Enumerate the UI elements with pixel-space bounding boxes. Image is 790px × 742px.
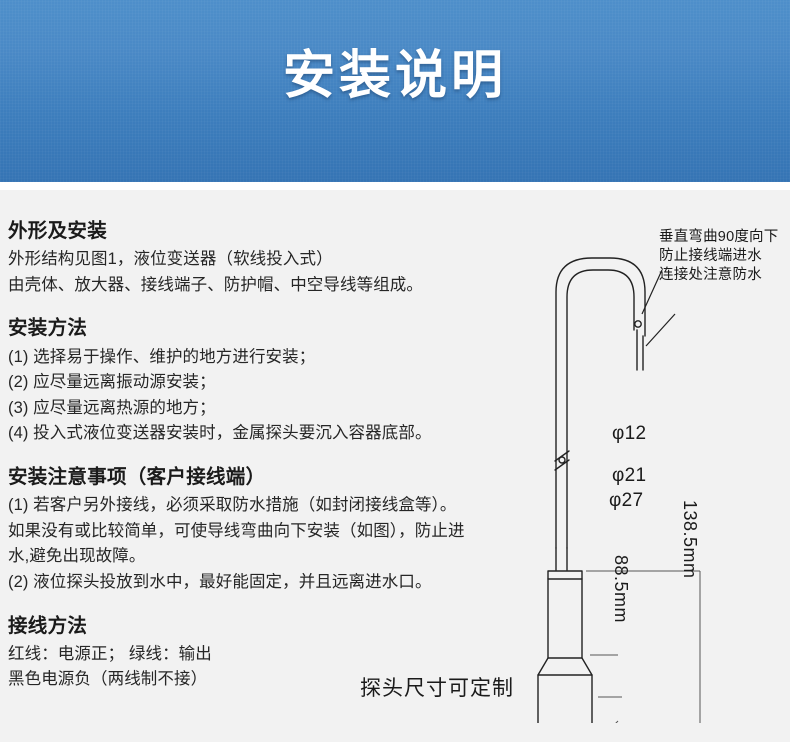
section-line: (1) 选择易于操作、维护的地方进行安装； — [8, 345, 528, 371]
section-line: (2) 液位探头投放到水中，最好能固定，并且远离进水口。 — [8, 570, 528, 596]
probe-neck-phi12 — [548, 571, 582, 658]
header-banner: 安装说明 — [0, 0, 790, 182]
cable-terminal-node — [635, 321, 641, 327]
annotation-leader-terminal — [646, 314, 675, 346]
section-heading: 安装方法 — [8, 315, 528, 341]
section-body: (1) 若客户另外接线，必须采取防水措施（如封闭接线盒等）。 如果没有或比较简单… — [8, 493, 528, 595]
diameter-label-phi27: φ27 — [609, 490, 643, 512]
section-body: (1) 选择易于操作、维护的地方进行安装； (2) 应尽量远离振动源安装； (3… — [8, 345, 528, 447]
diameter-label-phi12: φ12 — [612, 423, 646, 445]
banner-divider — [0, 182, 790, 190]
section-line: 红线：电源正； 绿线：输出 — [8, 642, 528, 668]
section-heading: 接线方法 — [8, 613, 528, 639]
section-line: (2) 应尽量远离振动源安装； — [8, 370, 528, 396]
cable-annotation-block: 垂直弯曲90度向下 防止接线端进水 连接处注意防水 — [659, 228, 778, 285]
customizable-size-caption: 探头尺寸可定制 — [360, 672, 514, 702]
leader-phi27 — [592, 721, 618, 723]
section-line: 如果没有或比较简单，可使导线弯曲向下安装（如图），防止进 — [8, 519, 528, 545]
instruction-text-column: 外形及安装 外形结构见图1，液位变送器（软线投入式） 由壳体、放大器、接线端子、… — [8, 218, 528, 710]
section-heading: 外形及安装 — [8, 218, 528, 244]
probe-midbody-phi21 — [538, 675, 592, 723]
length-label-total: 138.5mm — [679, 500, 700, 579]
annotation-line: 连接处注意防水 — [659, 266, 778, 285]
annotation-line: 防止接线端进水 — [659, 247, 778, 266]
section-installation-method: 安装方法 (1) 选择易于操作、维护的地方进行安装； (2) 应尽量远离振动源安… — [8, 315, 528, 447]
section-line: 水,避免出现故障。 — [8, 544, 528, 570]
page-title: 安装说明 — [0, 50, 790, 102]
section-line: (3) 应尽量远离热源的地方； — [8, 396, 528, 422]
section-line: 由壳体、放大器、接线端子、防护帽、中空导线等组成。 — [8, 273, 528, 299]
section-heading: 安装注意事项（客户接线端） — [8, 464, 528, 490]
annotation-line: 垂直弯曲90度向下 — [659, 228, 778, 247]
section-shape-and-installation: 外形及安装 外形结构见图1，液位变送器（软线投入式） 由壳体、放大器、接线端子、… — [8, 218, 528, 298]
section-installation-notes: 安装注意事项（客户接线端） (1) 若客户另外接线，必须采取防水措施（如封闭接线… — [8, 464, 528, 596]
diameter-label-phi21: φ21 — [612, 465, 646, 487]
cable-break-node — [559, 457, 565, 463]
section-body: 外形结构见图1，液位变送器（软线投入式） 由壳体、放大器、接线端子、防护帽、中空… — [8, 247, 528, 298]
section-line: 外形结构见图1，液位变送器（软线投入式） — [8, 247, 528, 273]
length-label-body: 88.5mm — [610, 555, 631, 623]
section-line: (4) 投入式液位变送器安装时，金属探头要沉入容器底部。 — [8, 421, 528, 447]
probe-shoulder-upper — [538, 658, 592, 675]
section-line: (1) 若客户另外接线，必须采取防水措施（如封闭接线盒等）。 — [8, 493, 528, 519]
installation-instruction-page: 安装说明 外形及安装 外形结构见图1，液位变送器（软线投入式） 由壳体、放大器、… — [0, 0, 790, 742]
